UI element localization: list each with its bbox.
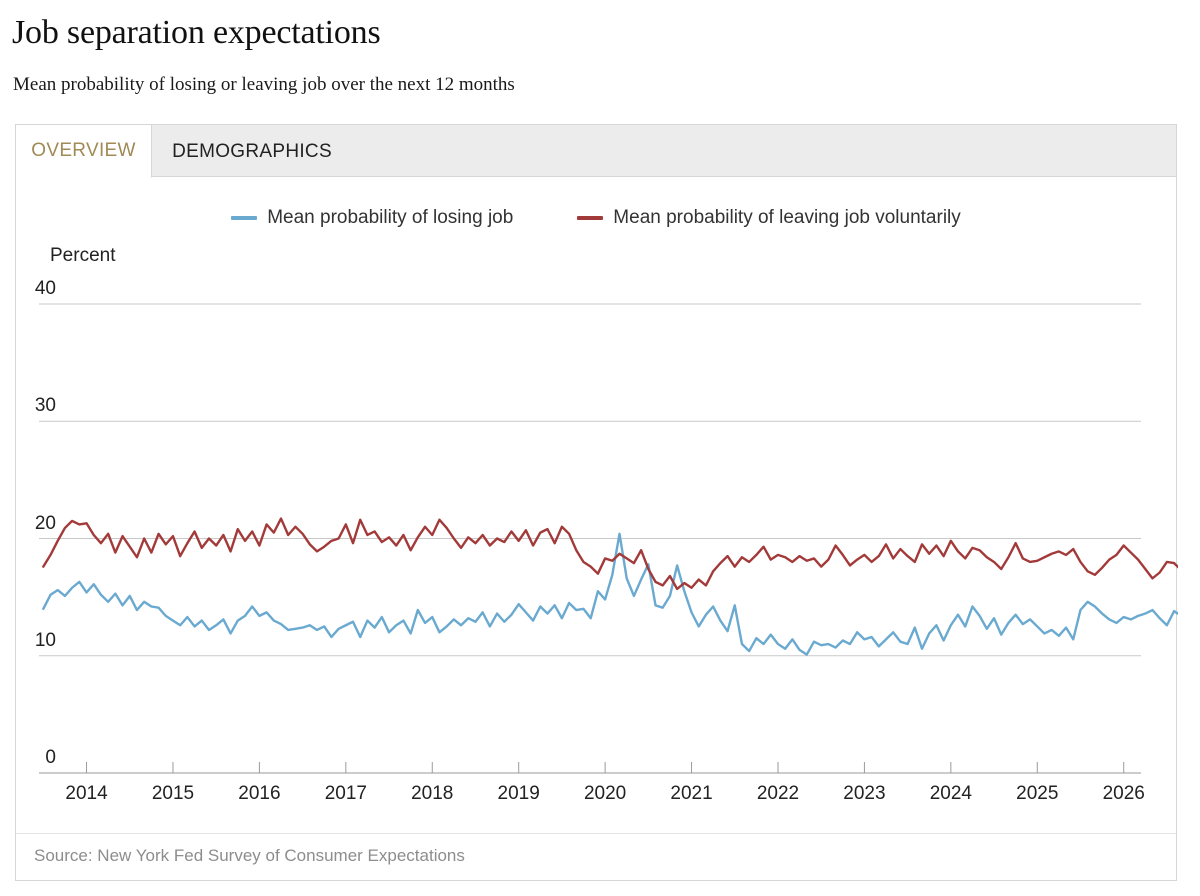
x-tick-label: 2017 <box>306 783 386 805</box>
y-tick-label: 10 <box>16 630 56 652</box>
x-tick-label: 2018 <box>392 783 472 805</box>
x-tick-label: 2025 <box>997 783 1077 805</box>
plot-area: Percent 010203040 2014201520162017201820… <box>16 125 1178 882</box>
y-tick-label: 30 <box>16 395 56 417</box>
x-tick-label: 2019 <box>479 783 559 805</box>
x-tick-label: 2014 <box>47 783 127 805</box>
x-tick-label: 2023 <box>824 783 904 805</box>
x-tick-label: 2020 <box>565 783 645 805</box>
source-note: Source: New York Fed Survey of Consumer … <box>34 846 465 866</box>
y-tick-label: 40 <box>16 278 56 300</box>
footer-divider <box>16 833 1176 834</box>
x-tick-label: 2015 <box>133 783 213 805</box>
chart-panel: OVERVIEW DEMOGRAPHICS Mean probability o… <box>15 124 1177 881</box>
chart-page: Job separation expectations Mean probabi… <box>0 0 1200 896</box>
page-title: Job separation expectations <box>12 14 380 52</box>
x-tick-label: 2016 <box>219 783 299 805</box>
x-tick-label: 2022 <box>738 783 818 805</box>
y-axis-title: Percent <box>50 245 115 267</box>
x-tick-label: 2024 <box>911 783 991 805</box>
chart-svg <box>16 125 1178 882</box>
page-subtitle: Mean probability of losing or leaving jo… <box>13 74 515 96</box>
x-tick-label: 2021 <box>652 783 732 805</box>
y-tick-label: 0 <box>16 747 56 769</box>
y-tick-label: 20 <box>16 513 56 535</box>
x-tick-label: 2026 <box>1084 783 1164 805</box>
